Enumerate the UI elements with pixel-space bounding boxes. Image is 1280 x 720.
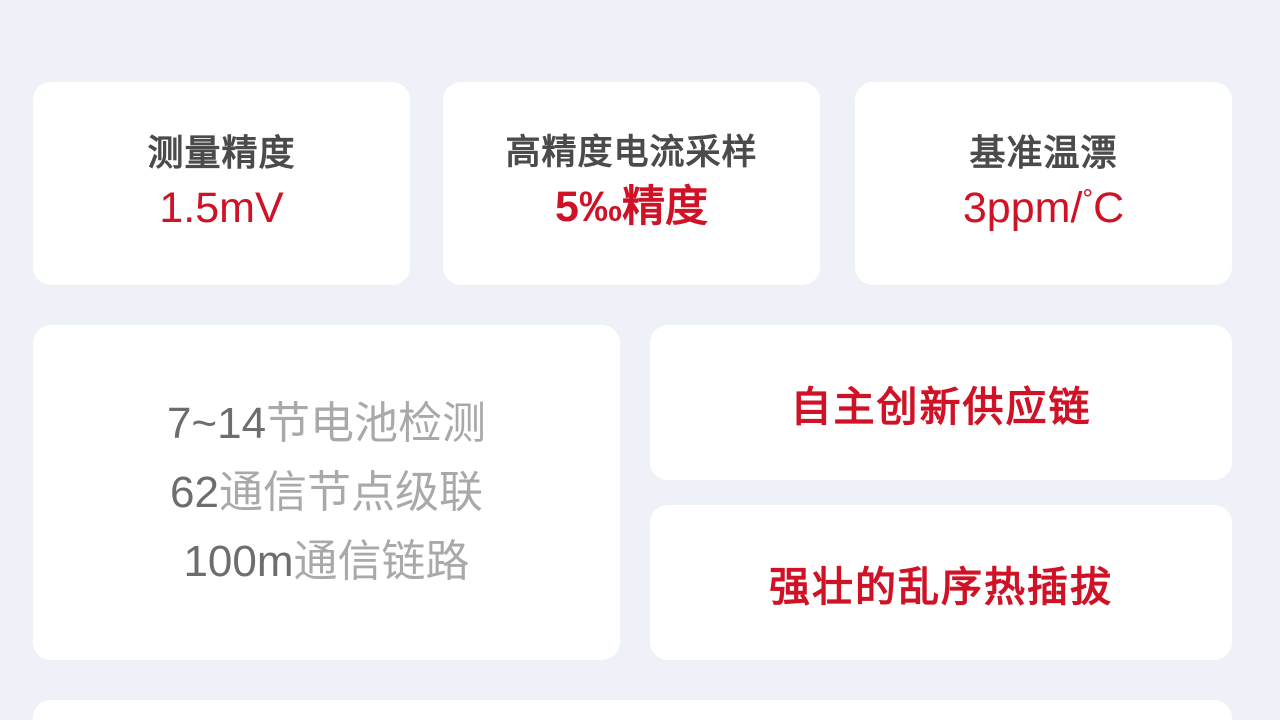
list-item-label: 通信节点级联 (219, 468, 483, 517)
bottom-partial-card[interactable] (33, 700, 1232, 720)
capability-list-card[interactable]: 7~14节电池检测 62通信节点级联 100m通信链路 (33, 325, 620, 660)
highlight-card-hot-swap[interactable]: 强壮的乱序热插拔 (650, 505, 1232, 660)
list-item: 7~14节电池检测 (167, 396, 486, 451)
list-item-number: 7~14 (167, 399, 266, 448)
list-item: 62通信节点级联 (170, 465, 483, 520)
stat-card-value-unit: C (1093, 184, 1124, 232)
stat-card-value: 1.5mV (159, 181, 283, 237)
stat-card-title: 测量精度 (147, 130, 295, 175)
list-item-label: 节电池检测 (266, 399, 486, 448)
list-item: 100m通信链路 (183, 534, 469, 589)
highlight-card-text: 自主创新供应链 (791, 373, 1092, 433)
stat-card-title: 高精度电流采样 (505, 131, 757, 175)
list-item-label: 通信链路 (294, 537, 470, 586)
spec-highlights-page: { "theme": { "background": "#eef1f7", "c… (0, 0, 1280, 720)
stat-card-reference-temperature-drift[interactable]: 基准温漂 3ppm/°C (855, 82, 1232, 285)
stat-card-value-number: 3ppm/ (963, 184, 1083, 232)
stat-card-measurement-accuracy[interactable]: 测量精度 1.5mV (33, 82, 410, 285)
stat-card-title: 基准温漂 (969, 130, 1117, 175)
stat-card-value: 5‰精度 (555, 180, 708, 236)
list-item-number: 62 (170, 468, 219, 517)
highlight-card-text: 强壮的乱序热插拔 (769, 553, 1113, 613)
stat-card-current-sampling[interactable]: 高精度电流采样 5‰精度 (443, 82, 820, 285)
degree-symbol: ° (1082, 184, 1093, 214)
stat-card-value: 3ppm/°C (963, 181, 1124, 237)
highlight-card-supply-chain[interactable]: 自主创新供应链 (650, 325, 1232, 480)
list-item-number: 100m (183, 537, 293, 586)
